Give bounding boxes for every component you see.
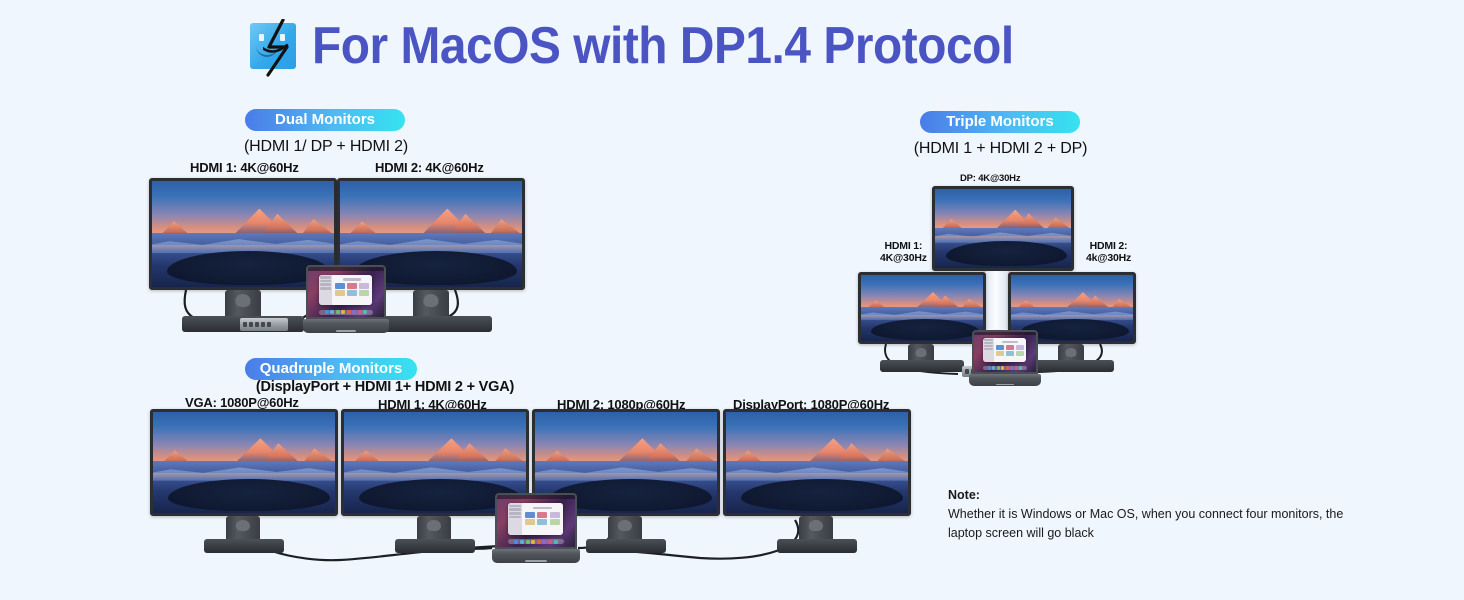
quad-monitor-1 [150,409,338,516]
finder-window [508,503,563,534]
infographic-canvas: For MacOS with DP1.4 Protocol Dual Monit… [0,0,1464,600]
usb-hub-dock [240,318,288,331]
quad-monitor-4 [723,409,911,516]
dual-monitor-2-label: HDMI 2: 4K@60Hz [375,160,484,175]
triple-monitor-hdmi1 [858,272,986,344]
laptop-keyboard-base [492,549,581,563]
macos-dock [983,366,1028,370]
triple-laptop [972,330,1038,386]
monitor-stand-base [1030,360,1114,372]
macos-dock [508,539,564,544]
monitor-screen [932,186,1074,271]
laptop-screen [972,330,1038,374]
wallpaper-mountains [153,412,335,513]
note-heading: Note: [948,486,1378,505]
monitor-stand-base [395,539,475,553]
note-body: Whether it is Windows or Mac OS, when yo… [948,505,1378,543]
triple-monitor-hdmi2-label: HDMI 2: 4k@30Hz [1086,240,1131,264]
triple-monitor-dp-label: DP: 4K@30Hz [960,173,1020,184]
quad-monitor-1-label: VGA: 1080P@60Hz [185,395,299,410]
laptop-keyboard-base [969,374,1040,386]
finder-window [983,338,1026,362]
triple-subtitle: (HDMI 1 + HDMI 2 + DP) [908,140,1093,158]
triple-top-monitor-column [986,271,1008,329]
laptop-screen [306,265,386,319]
triple-monitor-dp [932,186,1074,271]
note-block: Note: Whether it is Windows or Mac OS, w… [948,486,1378,543]
badge-triple-monitors: Triple Monitors [920,111,1080,133]
monitor-stand-base [204,539,284,553]
monitor-stand-base [880,360,964,372]
page-title-row: For MacOS with DP1.4 Protocol [250,16,1075,76]
finder-face-stroke [263,19,293,77]
dual-laptop [306,265,386,333]
wallpaper-mountains [935,189,1071,268]
monitor-stand-base [586,539,666,553]
dual-monitor-1-label: HDMI 1: 4K@60Hz [190,160,299,175]
badge-dual-monitors: Dual Monitors [245,109,405,131]
wallpaper-mountains [726,412,908,513]
finder-window [319,275,372,305]
macos-dock [319,310,374,315]
laptop-keyboard-base [303,319,389,333]
page-title: For MacOS with DP1.4 Protocol [312,16,1014,76]
monitor-screen [858,272,986,344]
wallpaper-mountains [861,275,983,341]
dual-subtitle: (HDMI 1/ DP + HDMI 2) [236,138,416,156]
finder-icon [250,23,296,69]
monitor-stand-base [777,539,857,553]
monitor-screen [150,409,338,516]
monitor-screen [723,409,911,516]
quadruple-laptop [495,493,577,563]
triple-monitor-hdmi1-label: HDMI 1: 4K@30Hz [880,240,927,264]
laptop-screen [495,493,577,549]
quadruple-subtitle: (DisplayPort + HDMI 1+ HDMI 2 + VGA) [240,379,530,395]
badge-quadruple-monitors: Quadruple Monitors [245,358,417,380]
